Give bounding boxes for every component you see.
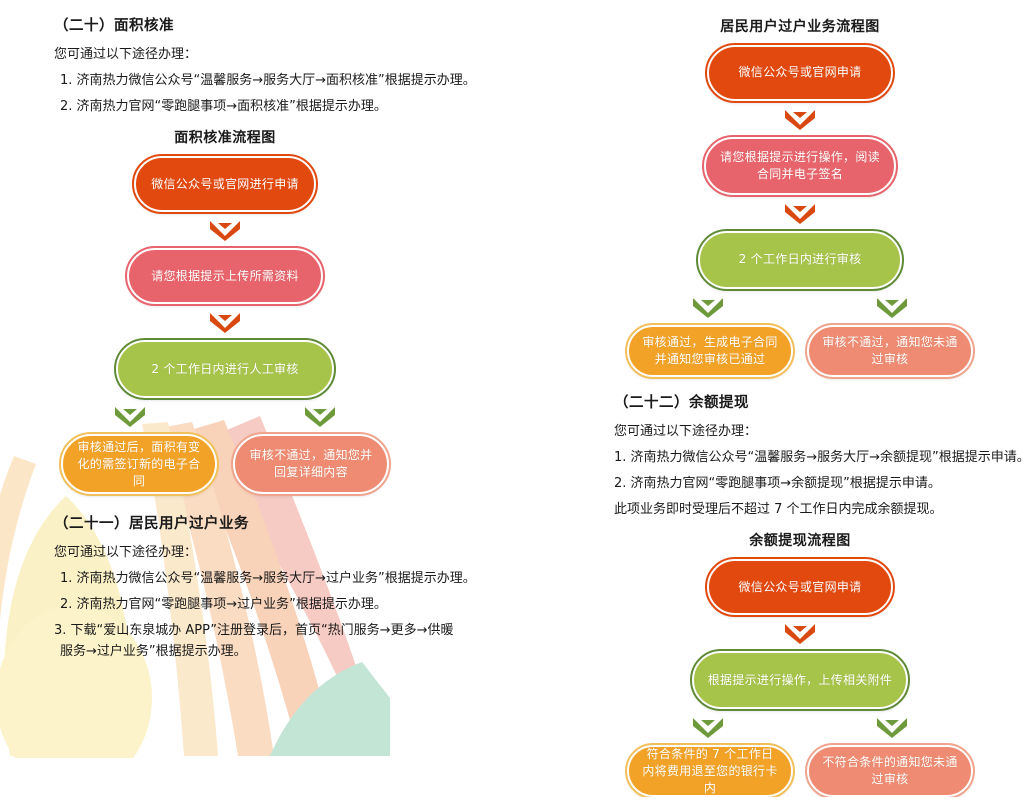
withdrawal-flowchart: 微信公众号或官网申请 根据提示进行操作，上传相关附件 (600, 559, 1000, 797)
branch-arrows (600, 709, 1000, 745)
section-20-item-2: 2. 济南热力官网“零跑腿事项→面积核准”根据提示办理。 (60, 96, 500, 117)
chevron-down-icon (208, 311, 242, 333)
chevron-down-icon (208, 219, 242, 241)
section-22-heading: （二十二）余额提现 (614, 391, 1000, 412)
chevron-down-icon (875, 296, 909, 318)
section-21-lead: 您可通过以下途径办理： (54, 542, 500, 563)
section-21-heading: （二十一）居民用户过户业务 (54, 512, 500, 533)
flow-node-step2[interactable]: 请您根据提示上传所需资料 (127, 248, 323, 304)
section-22-note: 此项业务即时受理后不超过 7 个工作日内完成余额提现。 (614, 499, 1000, 520)
flow-node-step3[interactable]: 2 个工作日内进行审核 (698, 231, 902, 289)
chevron-down-icon (875, 716, 909, 738)
chevron-down-icon (783, 622, 817, 644)
section-22-item-1: 1. 济南热力微信公众号“温馨服务→服务大厅→余额提现”根据提示申请。 (614, 447, 1000, 468)
chevron-down-icon (691, 296, 725, 318)
flow-node-step2[interactable]: 请您根据提示进行操作，阅读合同并电子签名 (704, 137, 896, 195)
document-page: （二十）面积核准 您可通过以下途径办理： 1. 济南热力微信公众号“温馨服务→服… (0, 0, 1026, 718)
section-20-lead: 您可通过以下途径办理： (54, 44, 500, 65)
section-21-item-1: 1. 济南热力微信公众号“温馨服务→服务大厅→过户业务”根据提示办理。 (60, 568, 500, 589)
flow-node-step1[interactable]: 微信公众号或官网申请 (707, 559, 893, 615)
flow-node-step1[interactable]: 微信公众号或官网进行申请 (134, 156, 316, 212)
flow-node-step2[interactable]: 根据提示进行操作，上传相关附件 (692, 651, 908, 709)
flow-node-branch-rejected[interactable]: 审核不通过，通知您未通过审核 (807, 325, 973, 377)
chevron-down-icon (691, 716, 725, 738)
flow-node-branch-rejected[interactable]: 审核不通过，通知您并回复详细内容 (233, 434, 389, 494)
chevron-down-icon (783, 108, 817, 130)
flow-node-step1[interactable]: 微信公众号或官网申请 (707, 45, 893, 101)
section-22-item-2: 2. 济南热力官网“零跑腿事项→余额提现”根据提示申请。 (614, 473, 1000, 494)
area-approval-chart-title: 面积核准流程图 (40, 127, 410, 147)
flow-node-branch-ineligible[interactable]: 不符合条件的通知您未通过审核 (807, 745, 973, 797)
transfer-flowchart: 微信公众号或官网申请 请您根据提示进行操作，阅读合同并电子签名 2 个工作日内进… (600, 45, 1000, 377)
section-20-item-1: 1. 济南热力微信公众号“温馨服务→服务大厅→面积核准”根据提示办理。 (60, 70, 500, 91)
branch-arrows (40, 398, 410, 434)
flow-node-branch-approved[interactable]: 审核通过后，面积有变化的需签订新的电子合同 (61, 434, 217, 494)
withdrawal-chart-title: 余额提现流程图 (600, 530, 1000, 550)
chevron-down-icon (113, 405, 147, 427)
section-21-item-3: 3. 下载“爱山东泉城办 APP”注册登录后，首页“热门服务→更多→供暖服务→过… (60, 620, 460, 662)
flow-node-branch-eligible[interactable]: 符合条件的 7 个工作日内将费用退至您的银行卡内 (627, 745, 793, 797)
chevron-down-icon (303, 405, 337, 427)
flow-node-step3[interactable]: 2 个工作日内进行人工审核 (116, 340, 334, 398)
right-column: 居民用户过户业务流程图 微信公众号或官网申请 请您根据提示进行操作，阅读合同并电… (600, 0, 1000, 797)
area-approval-flowchart: 微信公众号或官网进行申请 请您根据提示上传所需资料 2 个工作日内进行人工审核 (40, 156, 410, 494)
flow-node-branch-approved[interactable]: 审核通过，生成电子合同并通知您审核已通过 (627, 325, 793, 377)
section-22-lead: 您可通过以下途径办理： (614, 421, 1000, 442)
left-column: （二十）面积核准 您可通过以下途径办理： 1. 济南热力微信公众号“温馨服务→服… (40, 0, 500, 667)
section-20-heading: （二十）面积核准 (54, 14, 500, 35)
branch-arrows (600, 289, 1000, 325)
section-21-item-2: 2. 济南热力官网“零跑腿事项→过户业务”根据提示办理。 (60, 594, 500, 615)
transfer-chart-title: 居民用户过户业务流程图 (600, 16, 1000, 36)
chevron-down-icon (783, 202, 817, 224)
